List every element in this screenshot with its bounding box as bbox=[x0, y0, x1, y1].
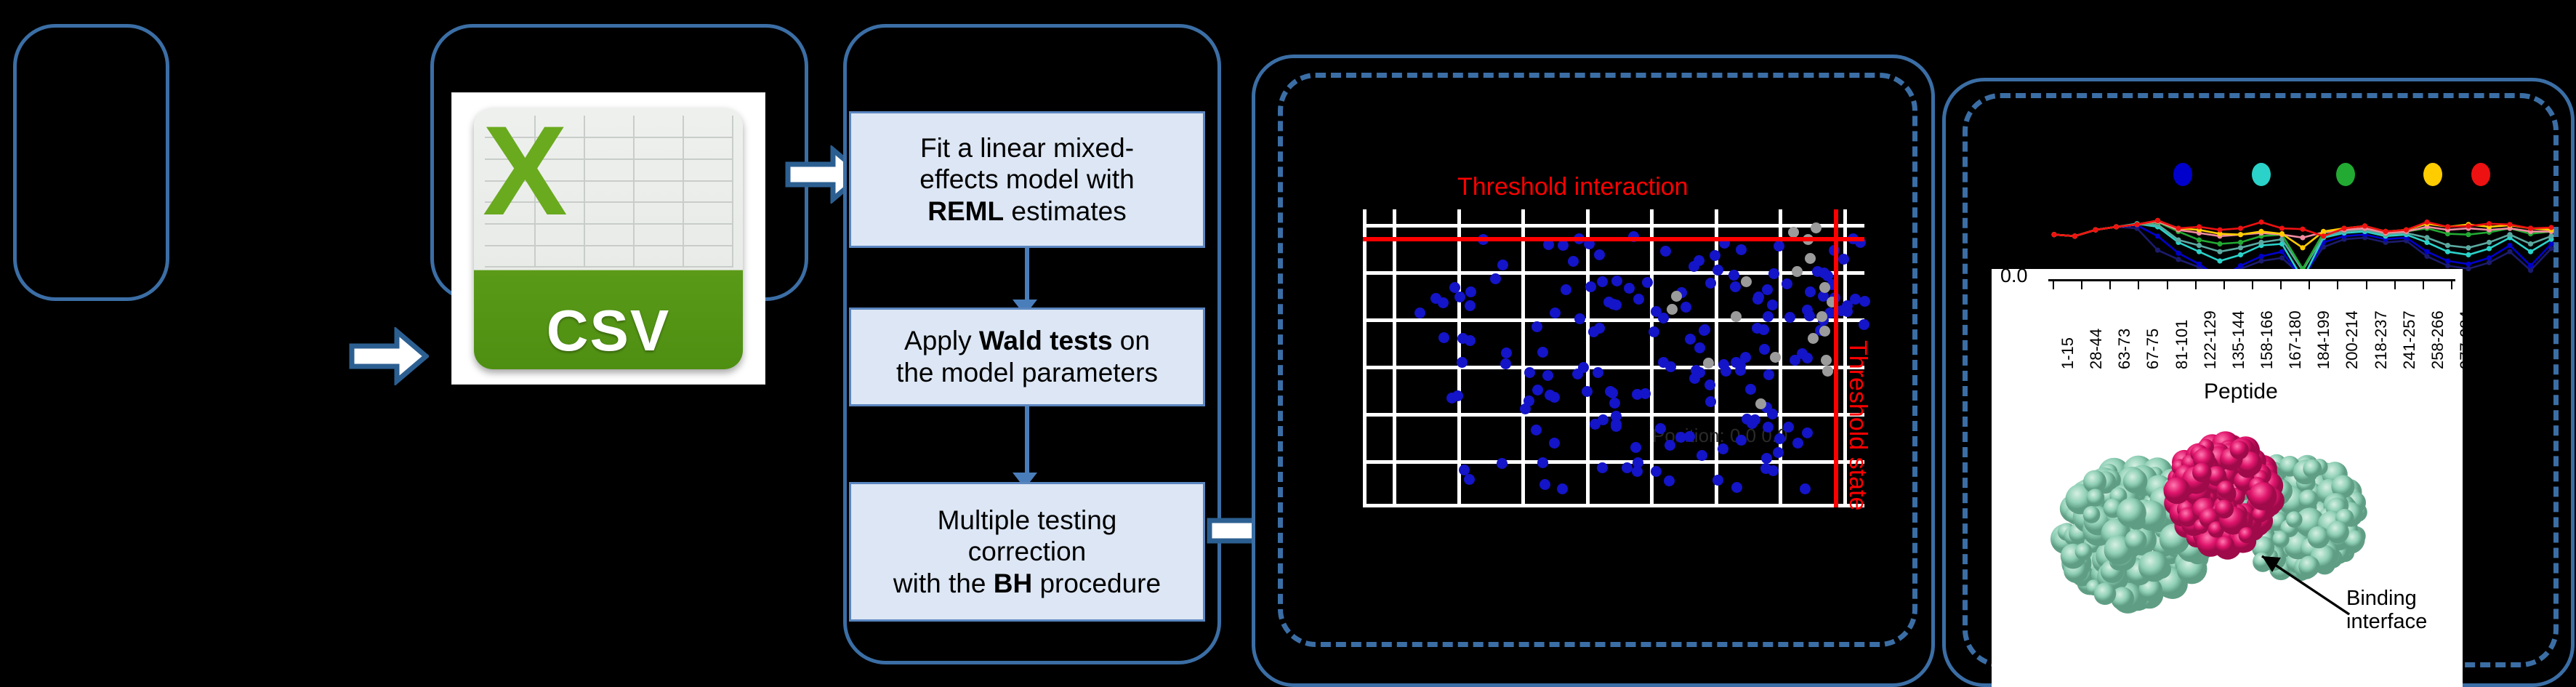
chart-series-point bbox=[2445, 258, 2450, 263]
callout-line2: interface bbox=[2346, 610, 2427, 633]
x-axis-tick bbox=[2109, 281, 2111, 289]
x-axis-tick-label: 258-266 bbox=[2428, 310, 2447, 369]
x-axis-tick-label: 200-214 bbox=[2343, 310, 2362, 369]
volcano-point bbox=[1572, 369, 1583, 379]
volcano-point bbox=[1497, 458, 1508, 469]
volcano-point bbox=[1594, 323, 1605, 334]
volcano-point bbox=[1704, 379, 1715, 390]
volcano-point bbox=[1549, 392, 1560, 403]
y-tick-0: 0.0 bbox=[2000, 269, 2028, 287]
volcano-point bbox=[1784, 312, 1795, 323]
volcano-point bbox=[1593, 367, 1603, 378]
chart-series-point bbox=[2051, 232, 2056, 237]
x-axis-tick-label: 122-129 bbox=[2201, 310, 2220, 369]
chart-series-point bbox=[2424, 220, 2429, 225]
bh-line2: correction bbox=[968, 537, 1086, 566]
volcano-point bbox=[1585, 281, 1596, 292]
volcano-point bbox=[1742, 414, 1752, 425]
volcano-point bbox=[1537, 347, 1548, 358]
chart-series-point bbox=[2093, 228, 2098, 233]
volcano-point bbox=[1819, 282, 1830, 293]
x-axis-tick-label: 63-73 bbox=[2115, 329, 2134, 369]
volcano-point bbox=[1774, 241, 1784, 252]
grid-h bbox=[1363, 224, 1864, 228]
volcano-point bbox=[1819, 268, 1830, 278]
chart-series-point bbox=[2404, 228, 2409, 233]
chart-series-point bbox=[2487, 246, 2492, 251]
volcano-point bbox=[1465, 335, 1476, 346]
chart-series-point bbox=[2300, 235, 2305, 240]
volcano-point bbox=[1755, 398, 1766, 409]
x-axis-tick bbox=[2366, 281, 2367, 289]
volcano-point bbox=[1759, 344, 1770, 355]
volcano-point bbox=[1597, 462, 1608, 473]
chart-series-point bbox=[2548, 241, 2553, 246]
volcano-point bbox=[1752, 323, 1763, 334]
fit-model-line2: effects model with bbox=[919, 164, 1134, 194]
chart-series-point bbox=[2258, 258, 2263, 263]
x-axis-tick-label: 184-199 bbox=[2314, 310, 2333, 369]
volcano-point bbox=[1609, 398, 1620, 409]
chart-series-point bbox=[2466, 262, 2471, 267]
volcano-point bbox=[1761, 453, 1772, 464]
chart-series-point bbox=[2321, 229, 2326, 234]
chart-series-point bbox=[2300, 245, 2305, 250]
volcano-point bbox=[1712, 265, 1723, 276]
volcano-point bbox=[1696, 450, 1707, 461]
volcano-point bbox=[1741, 276, 1752, 287]
volcano-point bbox=[1728, 270, 1739, 281]
csv-icon-label: CSV bbox=[474, 297, 743, 364]
x-axis-tick bbox=[2167, 281, 2168, 289]
volcano-point bbox=[1774, 433, 1785, 444]
connector-1 bbox=[1025, 248, 1029, 305]
volcano-point bbox=[1665, 440, 1675, 451]
volcano-point bbox=[1630, 442, 1641, 453]
volcano-point bbox=[1490, 273, 1501, 284]
legend-dot-green bbox=[2336, 163, 2355, 186]
volcano-point bbox=[1768, 268, 1779, 279]
chart-series-point bbox=[2528, 226, 2533, 231]
chart-series-point bbox=[2487, 240, 2492, 245]
chart-series-point bbox=[2445, 263, 2450, 268]
arrow-input-to-csv bbox=[349, 327, 429, 385]
chart-series-point bbox=[2548, 233, 2553, 238]
volcano-point bbox=[1655, 423, 1666, 434]
chart-series-point bbox=[2217, 228, 2222, 233]
x-axis-tick-label: 218-237 bbox=[2372, 310, 2391, 369]
volcano-point bbox=[1531, 425, 1542, 435]
volcano-point bbox=[1452, 390, 1463, 401]
threshold-state-label: Threshold state bbox=[1843, 340, 1872, 510]
volcano-point bbox=[1694, 255, 1704, 266]
volcano-point bbox=[1622, 462, 1633, 473]
x-axis-tick bbox=[2223, 281, 2225, 289]
volcano-point bbox=[1465, 300, 1476, 311]
volcano-point bbox=[1454, 292, 1465, 302]
chart-series-point bbox=[2466, 232, 2471, 237]
volcano-point bbox=[1736, 244, 1747, 255]
chart-series-point bbox=[2466, 252, 2471, 257]
volcano-point bbox=[1712, 475, 1723, 486]
volcano-point bbox=[1763, 422, 1774, 433]
chart-series-point bbox=[2528, 263, 2533, 268]
x-axis-tick-label: 167-180 bbox=[2286, 310, 2305, 369]
volcano-point bbox=[1753, 292, 1764, 302]
x-axis-tick bbox=[2423, 281, 2424, 289]
chart-series-point bbox=[2175, 238, 2181, 243]
chart-series-point bbox=[2134, 222, 2139, 227]
chart-series-point bbox=[2507, 243, 2512, 248]
volcano-point bbox=[1438, 332, 1449, 343]
chart-series-point bbox=[2217, 258, 2222, 263]
volcano-point bbox=[1684, 431, 1695, 442]
chart-series-point bbox=[2445, 249, 2450, 254]
volcano-point bbox=[1792, 266, 1803, 277]
chart-series-point bbox=[2072, 233, 2077, 238]
volcano-point bbox=[1763, 311, 1774, 322]
volcano-point bbox=[1464, 474, 1475, 485]
volcano-point bbox=[1790, 355, 1800, 366]
chart-series-point bbox=[2175, 251, 2181, 256]
chart-series-point bbox=[2258, 240, 2263, 245]
volcano-point bbox=[1842, 300, 1853, 311]
volcano-point bbox=[1745, 384, 1756, 395]
chart-series-point bbox=[2507, 222, 2512, 227]
fit-model-bold: REML bbox=[927, 196, 1004, 226]
volcano-point bbox=[1607, 387, 1618, 398]
volcano-plot: Position: 0.0 0.0 bbox=[1363, 209, 1864, 507]
chart-series-point bbox=[2197, 249, 2202, 254]
volcano-point bbox=[1782, 278, 1792, 289]
chart-series-point bbox=[2114, 224, 2119, 229]
volcano-point bbox=[1649, 326, 1659, 337]
x-axis-tick-label: 241-257 bbox=[2400, 310, 2419, 369]
volcano-point bbox=[1465, 286, 1476, 297]
chart-series-point bbox=[2175, 257, 2181, 262]
legend-dot-red bbox=[2471, 163, 2490, 186]
legend-dot-cyan bbox=[2252, 163, 2271, 186]
chart-series-point bbox=[2238, 240, 2243, 245]
volcano-point bbox=[1640, 388, 1651, 399]
bh-bold: BH bbox=[994, 569, 1032, 598]
volcano-point bbox=[1549, 438, 1560, 449]
binding-interface-callout: Binding interface bbox=[2346, 587, 2427, 634]
volcano-point bbox=[1783, 422, 1794, 433]
volcano-point bbox=[1730, 281, 1741, 292]
x-axis-tick-label: 81-101 bbox=[2173, 319, 2191, 369]
x-axis-tick bbox=[2394, 281, 2396, 289]
volcano-point bbox=[1590, 419, 1601, 430]
grid-h bbox=[1363, 366, 1864, 369]
fit-model-line3: estimates bbox=[1004, 196, 1127, 226]
volcano-point bbox=[1740, 352, 1751, 363]
wald-line2: the model parameters bbox=[896, 358, 1158, 387]
volcano-point bbox=[1537, 457, 1548, 468]
volcano-point bbox=[1665, 361, 1676, 372]
grid-h bbox=[1363, 460, 1864, 464]
volcano-point bbox=[1805, 286, 1816, 297]
chart-series-point bbox=[2528, 249, 2533, 254]
chart-series-point bbox=[2175, 226, 2181, 231]
volcano-point bbox=[1681, 302, 1691, 313]
legend-dot-yellow bbox=[2423, 163, 2442, 186]
chart-series-point bbox=[2424, 249, 2429, 254]
volcano-point bbox=[1611, 300, 1622, 310]
chart-series-point bbox=[2424, 254, 2429, 259]
chart-series-point bbox=[2383, 229, 2388, 234]
volcano-point bbox=[1561, 284, 1571, 295]
x-axis-tick bbox=[2053, 281, 2054, 289]
peptide-inset: 0.0 1-1528-4463-7367-7581-101122-129135-… bbox=[1992, 269, 2463, 687]
excel-x-glyph: X bbox=[477, 108, 573, 222]
x-axis-tick-label: 158-166 bbox=[2258, 310, 2277, 369]
x-axis-tick-label: 1-15 bbox=[2058, 337, 2077, 369]
wald-suffix: on bbox=[1113, 326, 1150, 355]
volcano-point bbox=[1574, 313, 1585, 324]
volcano-point bbox=[1731, 482, 1742, 493]
chart-series-point bbox=[2424, 240, 2429, 245]
csv-file-icon: X CSV bbox=[452, 93, 765, 384]
wald-prefix: Apply bbox=[904, 326, 979, 355]
x-axis-tick bbox=[2280, 281, 2282, 289]
threshold-interaction-label: Threshold interaction bbox=[1457, 173, 1689, 201]
volcano-point bbox=[1667, 304, 1678, 315]
connector-2 bbox=[1025, 406, 1029, 478]
x-axis-tick-label: 277-284 bbox=[2457, 310, 2463, 369]
flowbox-wald-tests[interactable]: Apply Wald tests on the model parameters bbox=[849, 308, 1205, 406]
volcano-point bbox=[1550, 308, 1561, 318]
volcano-point bbox=[1582, 386, 1593, 397]
volcano-point bbox=[1594, 249, 1605, 260]
chart-series-point bbox=[2362, 223, 2367, 228]
chart-series-point bbox=[2155, 218, 2160, 223]
input-panel bbox=[13, 24, 169, 301]
volcano-point bbox=[1414, 308, 1425, 318]
chart-series-point bbox=[2341, 226, 2346, 231]
chart-series-point bbox=[2321, 233, 2326, 238]
volcano-point bbox=[1624, 283, 1635, 294]
volcano-point bbox=[1705, 278, 1716, 289]
x-axis-tick bbox=[2337, 281, 2338, 289]
volcano-point bbox=[1805, 253, 1816, 264]
volcano-point bbox=[1568, 256, 1579, 267]
chart-series-point bbox=[2279, 255, 2285, 260]
volcano-point bbox=[1660, 246, 1671, 257]
chart-series-point bbox=[2507, 249, 2512, 254]
x-axis-tick bbox=[2252, 281, 2253, 289]
x-axis-tick bbox=[2451, 281, 2452, 289]
volcano-point bbox=[1838, 254, 1849, 265]
volcano-point bbox=[1718, 359, 1729, 370]
volcano-point bbox=[1597, 276, 1608, 287]
chart-series-point bbox=[2155, 233, 2160, 238]
volcano-point bbox=[1808, 333, 1819, 344]
legend-dot-blue bbox=[2173, 163, 2192, 186]
x-axis-tick-label: 67-75 bbox=[2144, 329, 2162, 369]
fit-model-line1: Fit a linear mixed- bbox=[920, 133, 1134, 163]
chart-series-point bbox=[2197, 262, 2202, 267]
volcano-point bbox=[1699, 324, 1710, 335]
volcano-point bbox=[1802, 353, 1813, 363]
volcano-point bbox=[1718, 443, 1728, 454]
volcano-point bbox=[1557, 483, 1568, 494]
volcano-point bbox=[1859, 296, 1870, 307]
chart-series-point bbox=[2528, 241, 2533, 246]
chart-series-point bbox=[2258, 229, 2263, 234]
chart-series-point bbox=[2487, 255, 2492, 260]
volcano-point bbox=[1816, 311, 1827, 322]
volcano-point bbox=[1539, 479, 1550, 490]
x-axis-tick-label: 28-44 bbox=[2087, 329, 2106, 369]
chart-series-point bbox=[2238, 232, 2243, 237]
chart-series-point bbox=[2197, 243, 2202, 248]
volcano-point bbox=[1531, 321, 1542, 332]
chart-series-point bbox=[2238, 226, 2243, 231]
bh-line1: Multiple testing bbox=[938, 505, 1117, 535]
volcano-point bbox=[1532, 385, 1543, 395]
chart-series-point bbox=[2279, 231, 2285, 236]
volcano-point bbox=[1651, 466, 1662, 477]
volcano-point bbox=[1449, 282, 1460, 293]
flowbox-fit-model[interactable]: Fit a linear mixed- effects model with R… bbox=[849, 111, 1205, 248]
x-axis-tick-label: 135-144 bbox=[2229, 310, 2248, 369]
chart-series-point bbox=[2300, 227, 2305, 232]
x-axis-tick bbox=[2081, 281, 2082, 289]
chart-series-point bbox=[2487, 221, 2492, 226]
volcano-point bbox=[1802, 427, 1813, 438]
volcano-point bbox=[1497, 260, 1508, 270]
volcano-point bbox=[1770, 352, 1781, 363]
grid-h bbox=[1363, 271, 1864, 275]
volcano-point bbox=[1633, 457, 1643, 468]
x-axis-tick bbox=[2309, 281, 2310, 289]
volcano-point bbox=[1792, 438, 1803, 449]
chart-series-point bbox=[2238, 252, 2243, 257]
chart-series-point bbox=[2217, 249, 2222, 254]
chart-series-point bbox=[2466, 266, 2471, 271]
volcano-point bbox=[1542, 370, 1553, 381]
chart-series-point bbox=[2466, 245, 2471, 250]
volcano-point bbox=[1811, 222, 1822, 233]
volcano-point bbox=[1611, 276, 1622, 286]
chart-series-point bbox=[2528, 268, 2533, 273]
volcano-point bbox=[1651, 306, 1662, 317]
volcano-point bbox=[1611, 419, 1622, 430]
chart-series-point bbox=[2507, 232, 2512, 237]
volcano-point bbox=[1438, 297, 1449, 308]
volcano-point bbox=[1731, 311, 1742, 322]
callout-line1: Binding bbox=[2346, 587, 2427, 610]
volcano-point bbox=[1558, 240, 1569, 251]
volcano-point bbox=[1664, 475, 1675, 486]
chart-series-point bbox=[2155, 248, 2160, 253]
volcano-point bbox=[1763, 369, 1774, 380]
volcano-point bbox=[1524, 367, 1535, 378]
chart-series-point bbox=[2487, 260, 2492, 265]
chart-series-point bbox=[2445, 224, 2450, 229]
chart-series-point bbox=[2197, 224, 2202, 229]
chart-series-point bbox=[2466, 223, 2471, 228]
chart-series-point bbox=[2279, 249, 2285, 254]
volcano-point bbox=[1694, 342, 1705, 353]
x-axis-tick bbox=[2195, 281, 2197, 289]
volcano-point bbox=[1710, 250, 1720, 261]
chart-series-point bbox=[2238, 245, 2243, 250]
bh-line3-suffix: procedure bbox=[1032, 569, 1161, 598]
volcano-point bbox=[1671, 291, 1682, 302]
volcano-point bbox=[1736, 435, 1747, 446]
volcano-point bbox=[1788, 227, 1799, 238]
volcano-point bbox=[1762, 284, 1773, 295]
threshold-interaction-line bbox=[1363, 237, 1864, 241]
volcano-point bbox=[1457, 357, 1468, 368]
bh-line3-prefix: with the bbox=[893, 569, 994, 598]
chart-series-point bbox=[2424, 235, 2429, 240]
volcano-point bbox=[1821, 355, 1832, 366]
csv-card: X CSV bbox=[474, 108, 743, 369]
volcano-point bbox=[1501, 347, 1512, 358]
x-axis-tick bbox=[2138, 281, 2139, 289]
volcano-point bbox=[1633, 294, 1644, 305]
volcano-point bbox=[1524, 395, 1534, 406]
x-axis-title: Peptide bbox=[2204, 379, 2278, 404]
volcano-point bbox=[1703, 358, 1714, 369]
flowbox-bh-correction[interactable]: Multiple testing correction with the BH … bbox=[849, 482, 1205, 622]
volcano-point bbox=[1767, 300, 1778, 310]
chart-series-point bbox=[2258, 220, 2263, 225]
chart-series-point bbox=[2217, 241, 2222, 246]
wald-bold: Wald tests bbox=[979, 326, 1113, 355]
volcano-point bbox=[1773, 447, 1784, 458]
chart-series-point bbox=[2279, 226, 2285, 231]
chart-series-point bbox=[2445, 243, 2450, 248]
volcano-point bbox=[1685, 334, 1696, 345]
grid-h bbox=[1363, 504, 1864, 507]
chart-series-point bbox=[2548, 225, 2553, 230]
volcano-point bbox=[1800, 483, 1811, 494]
chart-series-point bbox=[2238, 263, 2243, 268]
volcano-point bbox=[1802, 305, 1813, 316]
volcano-point bbox=[1819, 326, 1830, 337]
volcano-point bbox=[1822, 366, 1833, 377]
threshold-state-line bbox=[1834, 209, 1838, 507]
chart-series-point bbox=[2197, 238, 2202, 243]
chart-series-point bbox=[2258, 254, 2263, 259]
